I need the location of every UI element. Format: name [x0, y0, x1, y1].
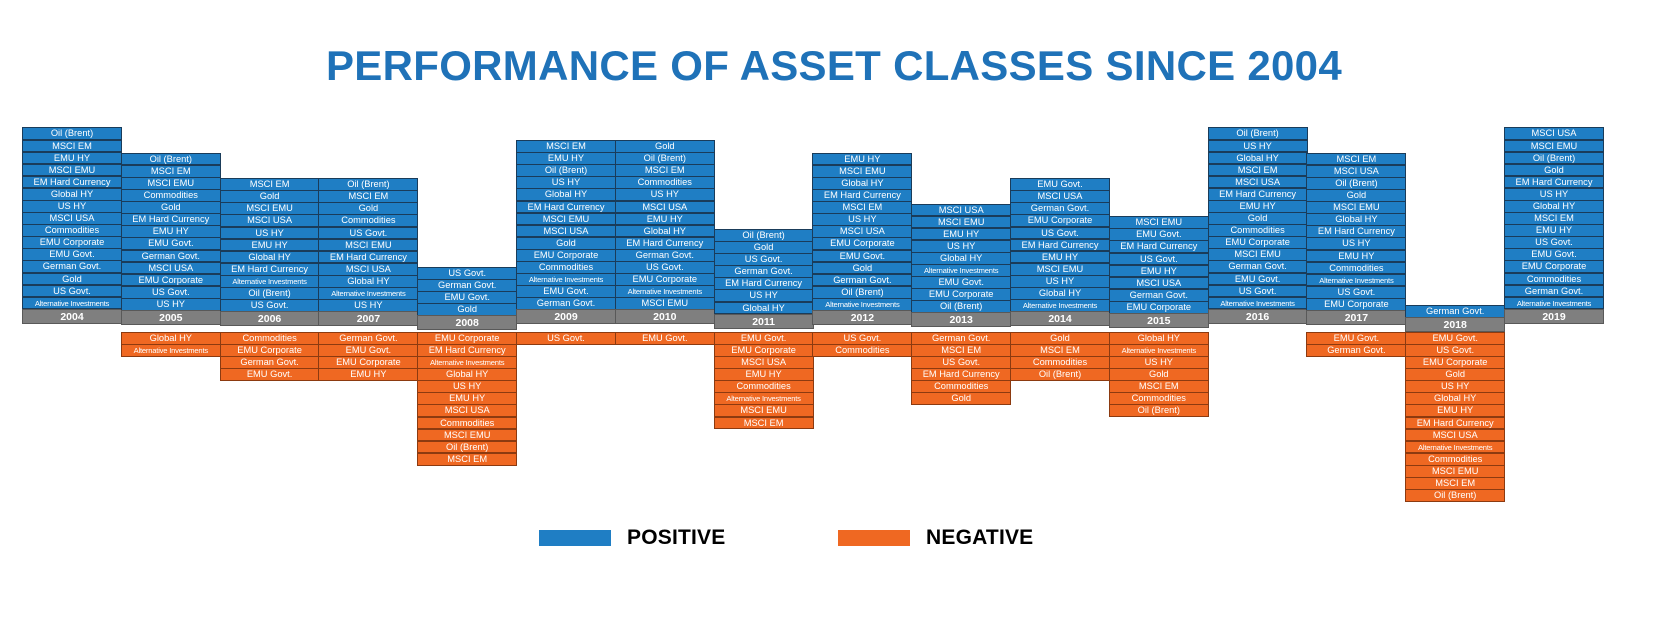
asset-cell: MSCI USA	[121, 262, 221, 275]
asset-cell: US Govt.	[22, 285, 122, 298]
asset-cell: MSCI EM	[1306, 153, 1406, 166]
asset-cell: US Govt.	[318, 227, 418, 240]
asset-cell: EMU Govt.	[318, 344, 418, 357]
positive-stack-2018: German Govt.2018	[1405, 306, 1505, 333]
asset-cell: Gold	[1109, 368, 1209, 381]
asset-cell: MSCI USA	[911, 204, 1011, 217]
legend-item-positive: POSITIVE	[539, 526, 725, 550]
asset-cell: US HY	[1504, 188, 1604, 201]
asset-cell: EM Hard Currency	[318, 251, 418, 264]
asset-cell: MSCI EMU	[516, 213, 616, 226]
year-label-2011: 2011	[714, 314, 814, 329]
asset-cell: US HY	[121, 298, 221, 311]
asset-cell: EMU HY	[22, 152, 122, 165]
asset-cell: Gold	[1504, 164, 1604, 177]
asset-cell: Alternative Investments	[615, 285, 715, 298]
asset-cell: US HY	[1109, 356, 1209, 369]
asset-cell: EMU Corporate	[812, 237, 912, 250]
negative-stack-2014: GoldMSCI EMCommoditiesOil (Brent)	[1010, 333, 1110, 381]
asset-cell: MSCI EMU	[121, 177, 221, 190]
positive-stack-2006: MSCI EMGoldMSCI EMUMSCI USAUS HYEMU HYGl…	[220, 179, 320, 326]
asset-cell: US Govt.	[121, 286, 221, 299]
positive-stack-2009: MSCI EMEMU HYOil (Brent)US HYGlobal HYEM…	[516, 141, 616, 325]
asset-cell: EMU Govt.	[1405, 332, 1505, 345]
asset-cell: MSCI EM	[220, 178, 320, 191]
asset-cell: US Govt.	[812, 332, 912, 345]
asset-cell: Alternative Investments	[1109, 344, 1209, 357]
asset-cell: MSCI EMU	[318, 239, 418, 252]
asset-cell: US HY	[1306, 237, 1406, 250]
asset-cell: MSCI USA	[1306, 165, 1406, 178]
asset-cell: German Govt.	[1010, 202, 1110, 215]
legend: POSITIVE NEGATIVE	[0, 524, 1668, 556]
asset-cell: EMU Govt.	[121, 237, 221, 250]
negative-stack-2010: EMU Govt.	[615, 333, 715, 345]
asset-cell: MSCI EMU	[1306, 201, 1406, 214]
asset-cell: Alternative Investments	[121, 344, 221, 357]
asset-cell: MSCI EM	[615, 164, 715, 177]
asset-cell: MSCI USA	[417, 404, 517, 417]
asset-cell: Commodities	[417, 417, 517, 430]
asset-cell: EMU Corporate	[516, 249, 616, 262]
asset-cell: EMU HY	[318, 368, 418, 381]
asset-cell: MSCI USA	[1109, 277, 1209, 290]
asset-cell: EMU HY	[615, 213, 715, 226]
asset-cell: Oil (Brent)	[1405, 489, 1505, 502]
year-label-2010: 2010	[615, 309, 715, 324]
asset-cell: EMU Govt.	[911, 276, 1011, 289]
asset-cell: MSCI EM	[417, 453, 517, 466]
positive-stack-2016: Oil (Brent)US HYGlobal HYMSCI EMMSCI USA…	[1208, 128, 1308, 324]
asset-cell: Alternative Investments	[417, 356, 517, 369]
negative-stack-2013: German Govt.MSCI EMUS Govt.EM Hard Curre…	[911, 333, 1011, 406]
year-label-2004: 2004	[22, 309, 122, 324]
legend-swatch-positive	[539, 530, 611, 546]
asset-cell: EMU HY	[417, 392, 517, 405]
asset-cell: US HY	[714, 289, 814, 302]
asset-cell: Oil (Brent)	[1504, 152, 1604, 165]
asset-cell: US Govt.	[615, 261, 715, 274]
asset-cell: MSCI USA	[220, 214, 320, 227]
asset-cell: EMU Govt.	[812, 250, 912, 263]
asset-cell: EM Hard Currency	[1109, 240, 1209, 253]
asset-cell: EMU Corporate	[22, 236, 122, 249]
asset-cell: Gold	[1208, 212, 1308, 225]
asset-cell: EMU Corporate	[1306, 298, 1406, 311]
asset-cell: EMU Corporate	[615, 273, 715, 286]
asset-cell: US Govt.	[220, 299, 320, 312]
asset-cell: Global HY	[417, 368, 517, 381]
asset-cell: MSCI USA	[714, 356, 814, 369]
asset-cell: MSCI EMU	[220, 202, 320, 215]
asset-cell: German Govt.	[516, 297, 616, 310]
asset-cell: Gold	[417, 303, 517, 316]
asset-cell: Oil (Brent)	[615, 152, 715, 165]
asset-cell: EMU Govt.	[516, 285, 616, 298]
asset-cell: EMU Corporate	[121, 274, 221, 287]
negative-stack-2008: EMU CorporateEM Hard CurrencyAlternative…	[417, 333, 517, 466]
positive-stack-2012: EMU HYMSCI EMUGlobal HYEM Hard CurrencyM…	[812, 153, 912, 325]
asset-cell: German Govt.	[1208, 260, 1308, 273]
asset-cell: EMU HY	[1306, 250, 1406, 263]
year-label-2018: 2018	[1405, 317, 1505, 332]
year-label-2015: 2015	[1109, 313, 1209, 328]
asset-cell: German Govt.	[911, 332, 1011, 345]
asset-cell: Global HY	[714, 302, 814, 315]
asset-cell: EM Hard Currency	[812, 189, 912, 202]
asset-cell: Global HY	[1010, 287, 1110, 300]
asset-cell: US HY	[318, 299, 418, 312]
asset-cell: MSCI EMU	[417, 429, 517, 442]
asset-cell: Gold	[1405, 368, 1505, 381]
asset-cell: Alternative Investments	[1405, 441, 1505, 454]
positive-stack-2005: Oil (Brent)MSCI EMMSCI EMUCommoditiesGol…	[121, 153, 221, 325]
asset-cell: Commodities	[1504, 273, 1604, 286]
asset-cell: EMU Govt.	[615, 332, 715, 345]
year-label-2012: 2012	[812, 310, 912, 325]
negative-stack-2005: Global HYAlternative Investments	[121, 333, 221, 357]
asset-cell: Commodities	[318, 214, 418, 227]
asset-cell: EMU HY	[1405, 404, 1505, 417]
asset-cell: US Govt.	[1208, 285, 1308, 298]
asset-cell: German Govt.	[417, 279, 517, 292]
asset-cell: Oil (Brent)	[714, 229, 814, 242]
asset-cell: Alternative Investments	[1306, 274, 1406, 287]
asset-cell: US Govt.	[1306, 286, 1406, 299]
asset-cell: Gold	[1010, 332, 1110, 345]
year-label-2009: 2009	[516, 309, 616, 324]
asset-cell: Gold	[615, 140, 715, 153]
asset-cell: US Govt.	[1504, 236, 1604, 249]
asset-cell: MSCI USA	[318, 263, 418, 276]
asset-cell: MSCI EMU	[1504, 140, 1604, 153]
asset-cell: Commodities	[121, 189, 221, 202]
asset-cell: MSCI EMU	[1208, 248, 1308, 261]
asset-cell: MSCI USA	[516, 225, 616, 238]
positive-stack-2015: MSCI EMUEMU Govt.EM Hard CurrencyUS Govt…	[1109, 217, 1209, 328]
asset-cell: Alternative Investments	[22, 297, 122, 310]
asset-cell: EMU Govt.	[1504, 248, 1604, 261]
positive-stack-2004: Oil (Brent)MSCI EMEMU HYMSCI EMUEM Hard …	[22, 128, 122, 324]
asset-cell: Commodities	[220, 332, 320, 345]
positive-stack-2019: MSCI USAMSCI EMUOil (Brent)GoldEM Hard C…	[1504, 128, 1604, 324]
asset-cell: Gold	[1306, 189, 1406, 202]
asset-cell: MSCI USA	[1405, 429, 1505, 442]
asset-cell: German Govt.	[220, 356, 320, 369]
asset-cell: EM Hard Currency	[121, 213, 221, 226]
asset-cell: Global HY	[318, 275, 418, 288]
asset-cell: MSCI EM	[911, 344, 1011, 357]
asset-cell: EMU Govt.	[1109, 228, 1209, 241]
asset-cell: German Govt.	[121, 250, 221, 263]
asset-cell: Gold	[220, 190, 320, 203]
asset-cell: US HY	[911, 240, 1011, 253]
asset-cell: US Govt.	[1010, 227, 1110, 240]
asset-cell: EM Hard Currency	[1405, 417, 1505, 430]
year-label-2019: 2019	[1504, 309, 1604, 324]
asset-cell: Oil (Brent)	[516, 164, 616, 177]
asset-cell: Commodities	[1010, 356, 1110, 369]
positive-stack-2014: EMU Govt.MSCI USAGerman Govt.EMU Corpora…	[1010, 179, 1110, 326]
asset-cell: German Govt.	[1109, 289, 1209, 302]
asset-cell: Gold	[714, 241, 814, 254]
year-label-2005: 2005	[121, 310, 221, 325]
asset-cell: EMU Govt.	[417, 291, 517, 304]
asset-cell: US HY	[1405, 380, 1505, 393]
asset-cell: MSCI EM	[1010, 344, 1110, 357]
asset-cell: EMU HY	[812, 153, 912, 166]
asset-cell: Oil (Brent)	[1306, 177, 1406, 190]
asset-cell: EMU Corporate	[417, 332, 517, 345]
asset-cell: Global HY	[1405, 392, 1505, 405]
year-label-2016: 2016	[1208, 309, 1308, 324]
positive-stack-2010: GoldOil (Brent)MSCI EMCommoditiesUS HYMS…	[615, 141, 715, 325]
asset-cell: Global HY	[1208, 152, 1308, 165]
asset-cell: EM Hard Currency	[516, 201, 616, 214]
asset-cell: Alternative Investments	[1208, 297, 1308, 310]
asset-cell: US HY	[1010, 275, 1110, 288]
asset-cell: EMU Govt.	[220, 368, 320, 381]
asset-cell: US HY	[22, 200, 122, 213]
asset-cell: Global HY	[220, 251, 320, 264]
asset-cell: EM Hard Currency	[1010, 239, 1110, 252]
asset-cell: MSCI EMU	[22, 164, 122, 177]
asset-cell: German Govt.	[812, 274, 912, 287]
negative-stack-2006: CommoditiesEMU CorporateGerman Govt.EMU …	[220, 333, 320, 381]
asset-cell: German Govt.	[714, 265, 814, 278]
asset-cell: US HY	[615, 188, 715, 201]
asset-cell: EMU HY	[121, 225, 221, 238]
asset-cell: EMU Corporate	[714, 344, 814, 357]
asset-cell: MSCI EM	[121, 165, 221, 178]
asset-cell: EMU Corporate	[1405, 356, 1505, 369]
asset-cell: Gold	[516, 237, 616, 250]
asset-cell: US Govt.	[1109, 253, 1209, 266]
asset-cell: Oil (Brent)	[22, 127, 122, 140]
year-label-2007: 2007	[318, 311, 418, 326]
asset-cell: Commodities	[911, 380, 1011, 393]
negative-stack-2007: German Govt.EMU Govt.EMU CorporateEMU HY	[318, 333, 418, 381]
asset-cell: MSCI EMU	[1109, 216, 1209, 229]
negative-stack-2015: Global HYAlternative InvestmentsUS HYGol…	[1109, 333, 1209, 418]
asset-cell: EMU Govt.	[1208, 273, 1308, 286]
legend-item-negative: NEGATIVE	[838, 526, 1033, 550]
asset-cell: Global HY	[22, 188, 122, 201]
asset-cell: EMU Corporate	[1010, 214, 1110, 227]
asset-cell: EM Hard Currency	[615, 237, 715, 250]
asset-cell: EM Hard Currency	[417, 344, 517, 357]
asset-cell: EMU HY	[911, 228, 1011, 241]
year-label-2014: 2014	[1010, 311, 1110, 326]
asset-cell: Gold	[812, 262, 912, 275]
asset-cell: US HY	[417, 380, 517, 393]
asset-cell: MSCI USA	[22, 212, 122, 225]
asset-cell: US HY	[1208, 140, 1308, 153]
asset-cell: Alternative Investments	[318, 287, 418, 300]
asset-cell: Gold	[121, 201, 221, 214]
asset-cell: Oil (Brent)	[1109, 404, 1209, 417]
asset-cell: US Govt.	[417, 267, 517, 280]
asset-cell: MSCI USA	[1010, 190, 1110, 203]
asset-cell: EMU HY	[1208, 200, 1308, 213]
asset-class-performance-matrix: Oil (Brent)MSCI EMEMU HYMSCI EMUEM Hard …	[22, 128, 1582, 518]
year-label-2008: 2008	[417, 315, 517, 330]
asset-cell: Alternative Investments	[220, 275, 320, 288]
asset-cell: MSCI EMU	[911, 216, 1011, 229]
asset-cell: EMU Govt.	[1306, 332, 1406, 345]
asset-cell: MSCI EM	[1504, 212, 1604, 225]
asset-cell: MSCI EM	[318, 190, 418, 203]
year-label-2017: 2017	[1306, 310, 1406, 325]
asset-cell: Oil (Brent)	[812, 286, 912, 299]
asset-cell: EMU Govt.	[22, 248, 122, 261]
legend-swatch-negative	[838, 530, 910, 546]
asset-cell: Alternative Investments	[1504, 297, 1604, 310]
asset-cell: US Govt.	[1405, 344, 1505, 357]
negative-stack-2017: EMU Govt.German Govt.	[1306, 333, 1406, 357]
positive-stack-2011: Oil (Brent)GoldUS Govt.German Govt.EM Ha…	[714, 230, 814, 329]
negative-stack-2018: EMU Govt.US Govt.EMU CorporateGoldUS HYG…	[1405, 333, 1505, 502]
asset-cell: MSCI EMU	[714, 404, 814, 417]
asset-cell: German Govt.	[615, 249, 715, 262]
year-label-2013: 2013	[911, 312, 1011, 327]
asset-cell: EMU Corporate	[1109, 301, 1209, 314]
asset-cell: Commodities	[615, 176, 715, 189]
asset-cell: EMU Corporate	[1208, 236, 1308, 249]
asset-cell: US Govt.	[714, 253, 814, 266]
asset-cell: Global HY	[1504, 200, 1604, 213]
asset-cell: MSCI USA	[1208, 176, 1308, 189]
asset-cell: MSCI EMU	[812, 165, 912, 178]
asset-cell: German Govt.	[1405, 305, 1505, 318]
asset-cell: German Govt.	[22, 260, 122, 273]
asset-cell: German Govt.	[1504, 285, 1604, 298]
asset-cell: Gold	[22, 273, 122, 286]
negative-stack-2009: US Govt.	[516, 333, 616, 345]
asset-cell: EMU Govt.	[1010, 178, 1110, 191]
asset-cell: Global HY	[516, 188, 616, 201]
asset-cell: Oil (Brent)	[911, 300, 1011, 313]
positive-stack-2017: MSCI EMMSCI USAOil (Brent)GoldMSCI EMUGl…	[1306, 153, 1406, 325]
asset-cell: Alternative Investments	[714, 392, 814, 405]
asset-cell: Oil (Brent)	[318, 178, 418, 191]
asset-cell: EMU HY	[1010, 251, 1110, 264]
asset-cell: German Govt.	[318, 332, 418, 345]
asset-cell: EM Hard Currency	[22, 176, 122, 189]
asset-cell: Commodities	[714, 380, 814, 393]
asset-cell: EMU Govt.	[714, 332, 814, 345]
positive-stack-2013: MSCI USAMSCI EMUEMU HYUS HYGlobal HYAlte…	[911, 204, 1011, 327]
asset-cell: MSCI EM	[516, 140, 616, 153]
asset-cell: US HY	[516, 176, 616, 189]
asset-cell: MSCI USA	[812, 225, 912, 238]
legend-label-positive: POSITIVE	[627, 526, 725, 550]
asset-cell: Gold	[911, 392, 1011, 405]
asset-cell: EM Hard Currency	[1504, 176, 1604, 189]
asset-cell: MSCI EM	[22, 140, 122, 153]
asset-cell: German Govt.	[1306, 344, 1406, 357]
asset-cell: Commodities	[1306, 262, 1406, 275]
asset-cell: EM Hard Currency	[1208, 188, 1308, 201]
asset-cell: Oil (Brent)	[121, 153, 221, 166]
asset-cell: Alternative Investments	[812, 298, 912, 311]
asset-cell: EMU HY	[714, 368, 814, 381]
asset-cell: EMU HY	[1504, 224, 1604, 237]
asset-cell: Alternative Investments	[516, 273, 616, 286]
asset-cell: Global HY	[1109, 332, 1209, 345]
legend-label-negative: NEGATIVE	[926, 526, 1033, 550]
asset-cell: Commodities	[22, 224, 122, 237]
asset-cell: Commodities	[1405, 453, 1505, 466]
asset-cell: MSCI EMU	[1010, 263, 1110, 276]
asset-cell: EMU Corporate	[318, 356, 418, 369]
asset-cell: MSCI USA	[615, 201, 715, 214]
negative-stack-2012: US Govt.Commodities	[812, 333, 912, 357]
asset-cell: Alternative Investments	[911, 264, 1011, 277]
asset-cell: MSCI EM	[1405, 477, 1505, 490]
asset-cell: Commodities	[1208, 224, 1308, 237]
asset-cell: Gold	[318, 202, 418, 215]
asset-cell: EMU Corporate	[911, 288, 1011, 301]
asset-cell: MSCI USA	[1504, 127, 1604, 140]
asset-cell: EMU HY	[1109, 265, 1209, 278]
asset-cell: EMU HY	[516, 152, 616, 165]
asset-cell: Global HY	[615, 225, 715, 238]
asset-cell: EM Hard Currency	[714, 277, 814, 290]
asset-cell: Global HY	[911, 252, 1011, 265]
asset-cell: US HY	[812, 213, 912, 226]
asset-cell: Global HY	[812, 177, 912, 190]
asset-cell: US Govt.	[516, 332, 616, 345]
asset-cell: US Govt.	[911, 356, 1011, 369]
asset-cell: Oil (Brent)	[220, 287, 320, 300]
asset-cell: EMU Corporate	[1504, 260, 1604, 273]
asset-cell: Commodities	[812, 344, 912, 357]
negative-stack-2011: EMU Govt.EMU CorporateMSCI USAEMU HYComm…	[714, 333, 814, 430]
asset-cell: EM Hard Currency	[911, 368, 1011, 381]
asset-cell: Commodities	[1109, 392, 1209, 405]
asset-cell: EMU HY	[220, 239, 320, 252]
asset-cell: Commodities	[516, 261, 616, 274]
asset-cell: MSCI EM	[714, 417, 814, 430]
asset-cell: MSCI EM	[1109, 380, 1209, 393]
asset-cell: MSCI EMU	[1405, 465, 1505, 478]
asset-cell: Oil (Brent)	[1208, 127, 1308, 140]
year-label-2006: 2006	[220, 311, 320, 326]
asset-cell: Global HY	[121, 332, 221, 345]
asset-cell: EMU Corporate	[220, 344, 320, 357]
asset-cell: Oil (Brent)	[417, 441, 517, 454]
asset-cell: MSCI EM	[1208, 164, 1308, 177]
asset-cell: Alternative Investments	[1010, 299, 1110, 312]
asset-cell: Oil (Brent)	[1010, 368, 1110, 381]
asset-cell: EM Hard Currency	[1306, 225, 1406, 238]
positive-stack-2007: Oil (Brent)MSCI EMGoldCommoditiesUS Govt…	[318, 179, 418, 326]
asset-cell: US HY	[220, 227, 320, 240]
asset-cell: EM Hard Currency	[220, 263, 320, 276]
asset-cell: MSCI EMU	[615, 297, 715, 310]
asset-cell: MSCI EM	[812, 201, 912, 214]
asset-cell: Global HY	[1306, 213, 1406, 226]
positive-stack-2008: US Govt.German Govt.EMU Govt.Gold2008	[417, 268, 517, 331]
page-title: PERFORMANCE OF ASSET CLASSES SINCE 2004	[0, 42, 1668, 90]
